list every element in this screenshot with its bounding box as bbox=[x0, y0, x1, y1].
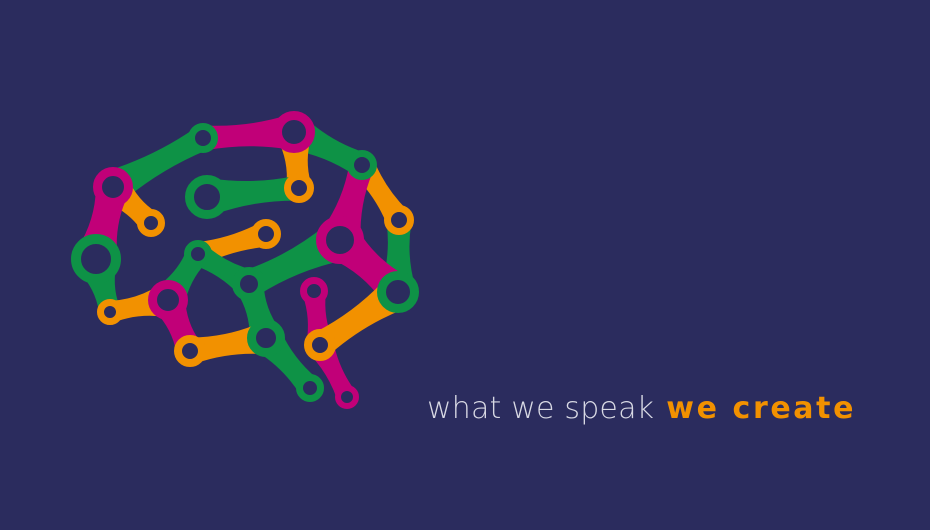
brain-node-n1 bbox=[192, 127, 215, 150]
brain-node-n4 bbox=[98, 172, 129, 203]
brain-node-n19 bbox=[178, 339, 202, 363]
brain-node-n17 bbox=[304, 281, 325, 302]
brain-node-n10 bbox=[76, 239, 116, 279]
brain-network-svg bbox=[55, 95, 445, 435]
slide-canvas: what we speak we create bbox=[0, 0, 930, 530]
brain-node-n5 bbox=[190, 180, 225, 215]
brain-node-n2 bbox=[278, 116, 311, 149]
brain-node-n15 bbox=[101, 303, 120, 322]
brain-node-n14 bbox=[382, 276, 415, 309]
brain-node-n12 bbox=[188, 244, 209, 265]
brain-node-n8 bbox=[141, 213, 162, 234]
brain-node-n22 bbox=[338, 388, 356, 406]
brain-network-logo bbox=[55, 95, 445, 435]
brain-node-n20 bbox=[308, 333, 332, 357]
brain-node-n7 bbox=[388, 209, 411, 232]
tagline-light-text: what we speak bbox=[427, 391, 654, 426]
brain-node-n21 bbox=[300, 378, 321, 399]
brain-node-n11 bbox=[255, 223, 278, 246]
tagline: what we speak we create bbox=[427, 388, 856, 428]
brain-node-n9 bbox=[321, 221, 359, 259]
brain-node-n6 bbox=[288, 177, 311, 200]
brain-node-n16 bbox=[153, 285, 184, 316]
tagline-accent-text: we create bbox=[666, 391, 856, 426]
brain-node-n18 bbox=[252, 324, 281, 353]
brain-node-n13 bbox=[236, 271, 262, 297]
brain-node-n3 bbox=[351, 154, 374, 177]
